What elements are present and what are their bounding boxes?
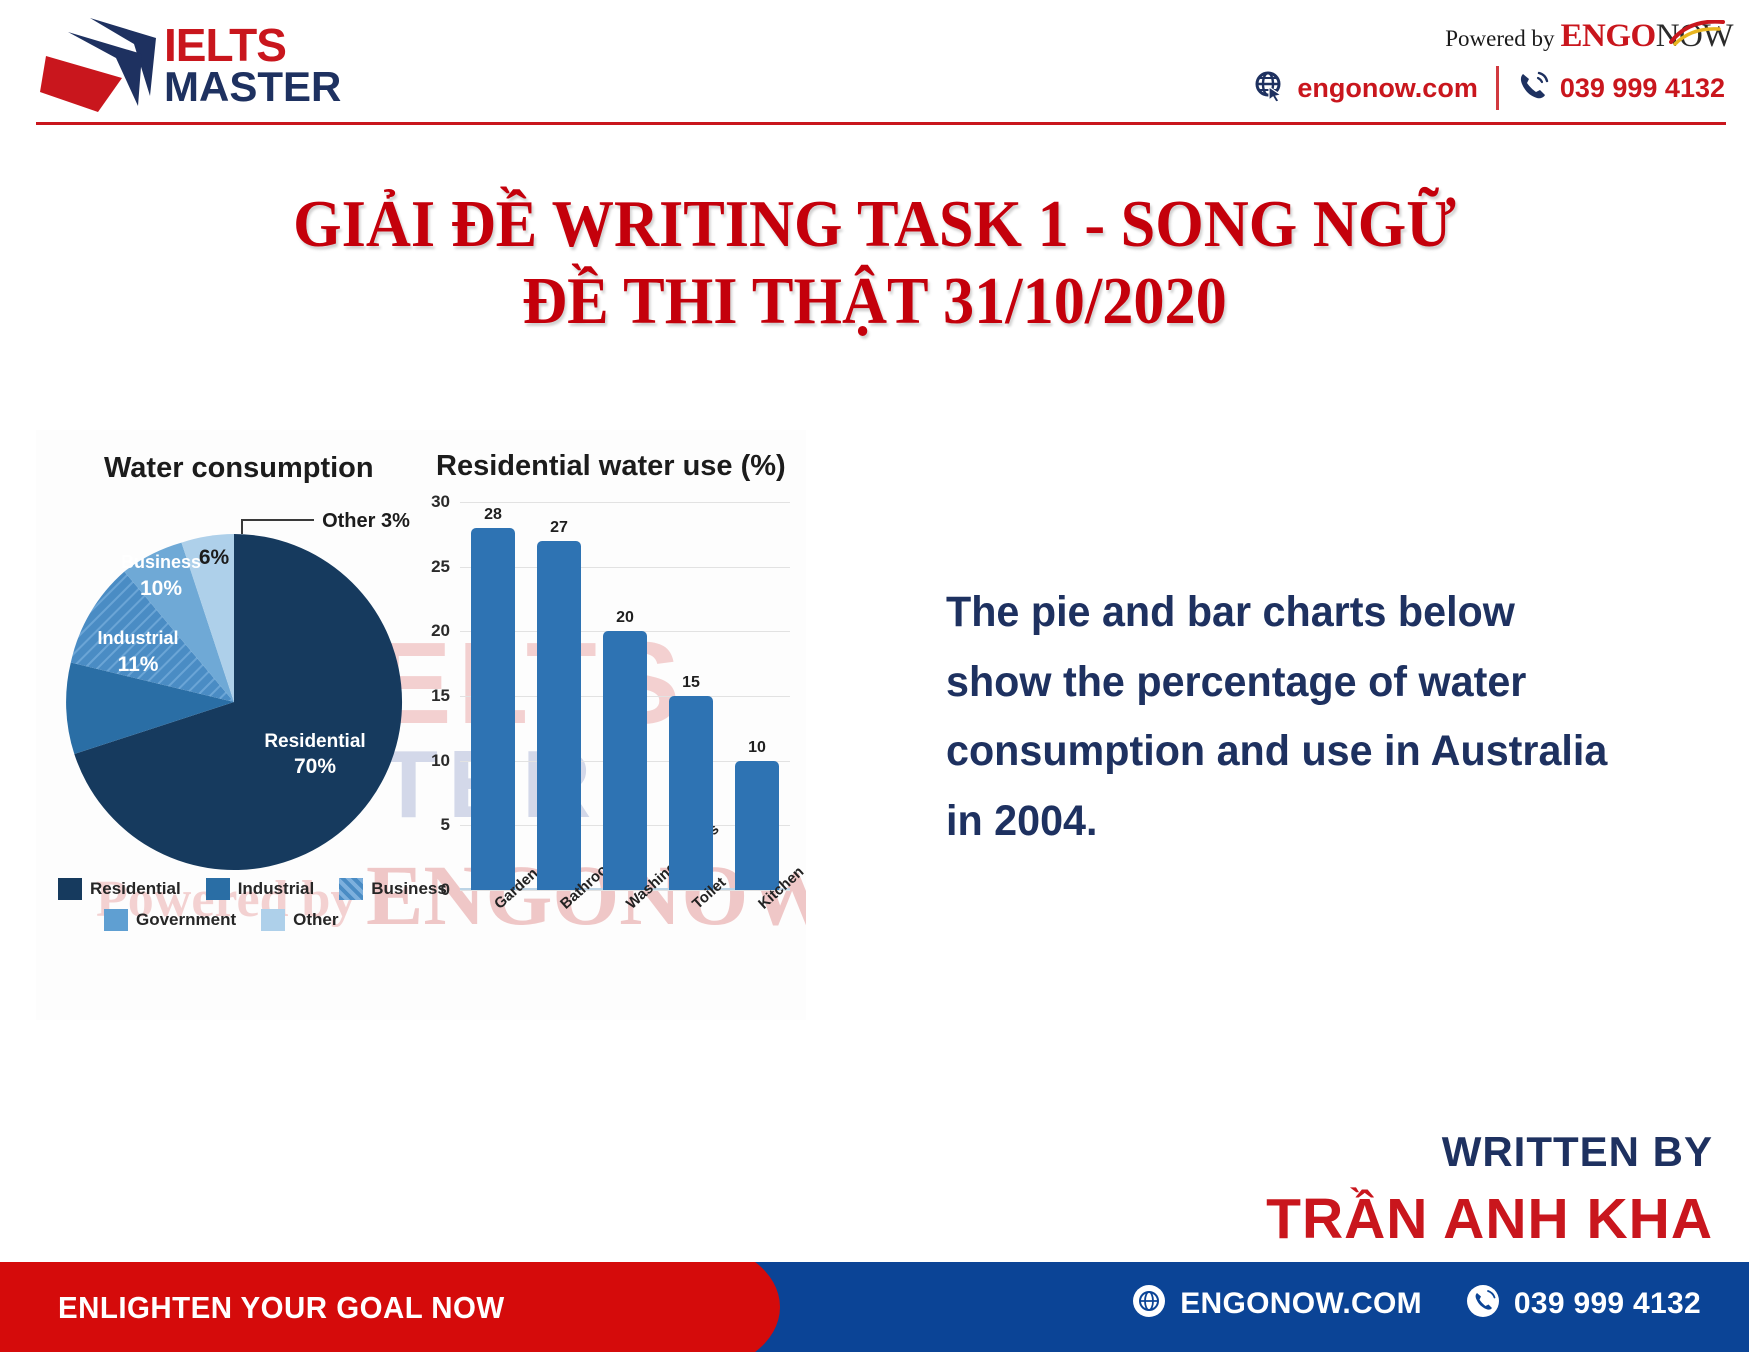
bar (537, 541, 581, 890)
legend-item-residential: Residential (58, 878, 181, 900)
svg-text:Business: Business (121, 552, 201, 572)
legend-label-government: Government (136, 910, 236, 930)
author-block: WRITTEN BY TRẦN ANH KHA (1266, 1128, 1713, 1252)
ielts-master-book-logo (38, 16, 158, 114)
y-axis-tick: 0 (441, 880, 450, 900)
bar-value-label: 10 (735, 739, 779, 757)
legend-swatch-residential (58, 878, 82, 900)
page-title: GIẢI ĐỀ WRITING TASK 1 - SONG NGỮ ĐỀ THI… (0, 186, 1749, 340)
y-axis-tick: 25 (431, 557, 450, 577)
header-phone-text: 039 999 4132 (1560, 73, 1725, 104)
logo-master-text: MASTER (164, 68, 341, 107)
svg-text:Residential: Residential (264, 731, 365, 752)
legend-label-other: Other (293, 910, 338, 930)
legend-label-industrial: Industrial (238, 879, 315, 899)
written-by-label: WRITTEN BY (1266, 1128, 1713, 1176)
legend-swatch-other (261, 909, 285, 931)
y-axis-tick: 10 (431, 751, 450, 771)
page-footer: ENLIGHTEN YOUR GOAL NOW ENGONOW.COM (0, 1262, 1749, 1352)
pie-chart-title: Water consumption (104, 452, 374, 485)
engonow-brand-bold: ENGO (1561, 18, 1656, 55)
svg-text:11%: 11% (118, 653, 159, 676)
bar-chart-title: Residential water use (%) (436, 450, 786, 483)
svg-text:Industrial: Industrial (97, 628, 178, 648)
pie-chart-legend: Residential Industrial Business Governme… (58, 878, 458, 940)
bar (735, 761, 779, 890)
bar-value-label: 15 (669, 674, 713, 692)
y-axis-tick: 30 (431, 492, 450, 512)
legend-item-industrial: Industrial (206, 878, 315, 900)
powered-by-engonow: Powered by ENGO NOW (1445, 18, 1733, 55)
phone-icon (1466, 1284, 1500, 1323)
footer-phone-text: 039 999 4132 (1514, 1287, 1701, 1321)
legend-swatch-business (339, 878, 363, 900)
svg-text:70%: 70% (294, 755, 336, 778)
footer-phone[interactable]: 039 999 4132 (1466, 1284, 1701, 1323)
title-line-1: GIẢI ĐỀ WRITING TASK 1 - SONG NGỮ (61, 186, 1688, 263)
globe-icon (1132, 1284, 1166, 1323)
bar-chart: 05101520253028Garden27Bathroom20Washing … (414, 492, 798, 970)
header-website-text: engonow.com (1297, 73, 1478, 104)
y-axis-tick: 15 (431, 686, 450, 706)
logo-ielts-text: IELTS (164, 24, 341, 66)
svg-text:10%: 10% (140, 577, 182, 600)
bar-value-label: 28 (471, 506, 515, 524)
grid-line (460, 502, 790, 503)
legend-label-residential: Residential (90, 879, 181, 899)
bar (669, 696, 713, 890)
bar (603, 631, 647, 890)
header-phone[interactable]: 039 999 4132 (1517, 70, 1725, 107)
footer-contact-group: ENGONOW.COM 039 999 4132 (1132, 1284, 1701, 1323)
footer-website-text: ENGONOW.COM (1180, 1287, 1422, 1321)
title-line-2: ĐỀ THI THẬT 31/10/2020 (61, 263, 1688, 340)
legend-item-government: Government (104, 909, 236, 931)
bar-chart-plot: 05101520253028Garden27Bathroom20Washing … (460, 502, 790, 890)
header-divider-rule (36, 122, 1726, 125)
phone-call-icon (1517, 70, 1549, 107)
contact-divider (1496, 66, 1499, 110)
footer-slogan: ENLIGHTEN YOUR GOAL NOW (58, 1290, 505, 1326)
legend-item-other: Other (261, 909, 338, 931)
svg-text:6%: 6% (199, 546, 230, 569)
legend-swatch-industrial (206, 878, 230, 900)
pie-chart: Residential 70% Industrial 11% Business … (56, 492, 416, 887)
task-prompt-text: The pie and bar charts below show the pe… (946, 578, 1618, 857)
legend-row-2: Government Other (58, 909, 458, 931)
svg-text:Other 3%: Other 3% (322, 510, 410, 532)
page-header: IELTS MASTER Powered by ENGO NOW (0, 0, 1749, 130)
footer-website[interactable]: ENGONOW.COM (1132, 1284, 1422, 1323)
legend-row-1: Residential Industrial Business (58, 878, 458, 900)
header-contact-bar: engonow.com 039 999 4132 (1254, 66, 1725, 110)
y-axis-tick: 20 (431, 621, 450, 641)
legend-swatch-government (104, 909, 128, 931)
footer-red-curve (600, 1262, 780, 1352)
brand-logo[interactable]: IELTS MASTER (38, 16, 338, 114)
header-website[interactable]: engonow.com (1254, 70, 1478, 107)
author-name: TRẦN ANH KHA (1266, 1186, 1713, 1252)
bar-value-label: 20 (603, 609, 647, 627)
bar (471, 528, 515, 890)
globe-cursor-icon (1254, 70, 1286, 107)
bar-value-label: 27 (537, 519, 581, 537)
engonow-swoosh-icon (1669, 20, 1725, 46)
charts-image-panel: IELTS MASTER Powered by ENGONOW Water co… (36, 430, 806, 1020)
powered-by-label: Powered by (1445, 26, 1554, 52)
y-axis-tick: 5 (441, 815, 450, 835)
